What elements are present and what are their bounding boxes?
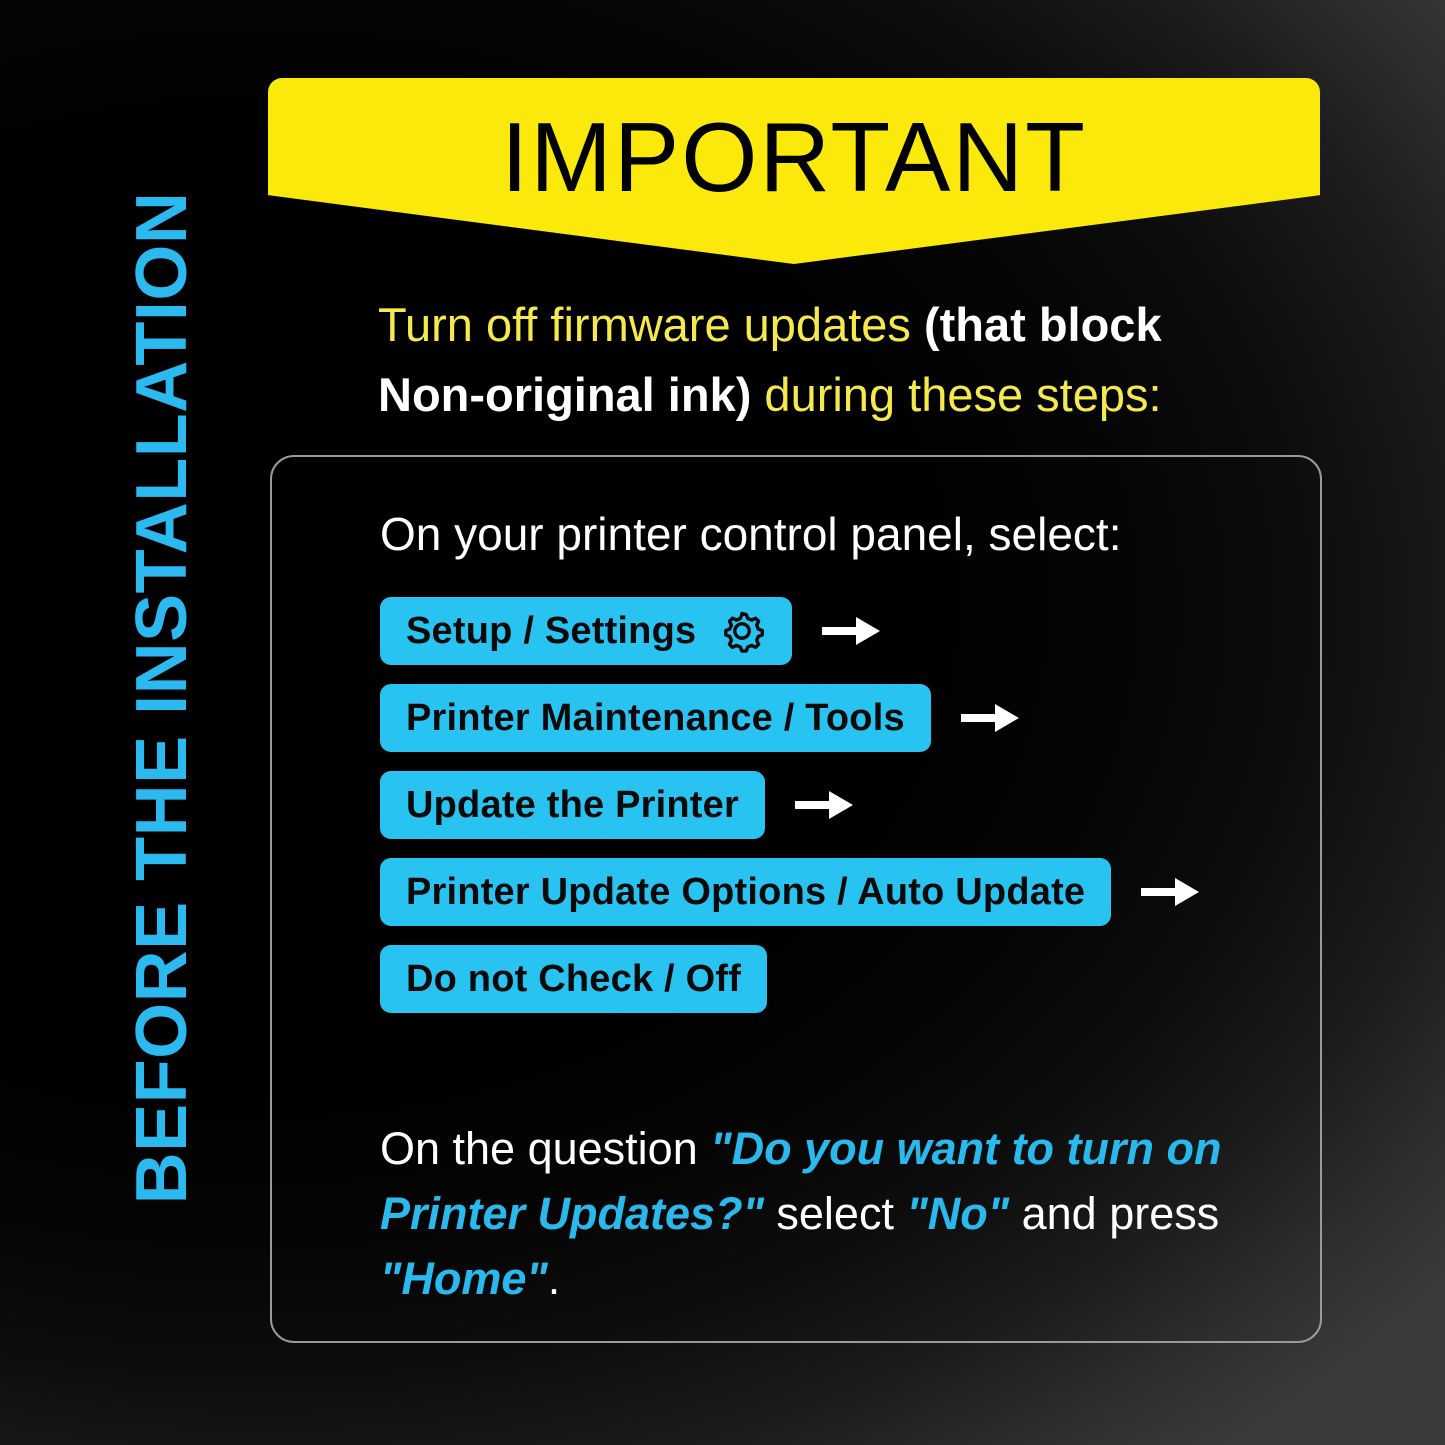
- headline: Turn off firmware updates (that block No…: [378, 290, 1178, 429]
- footer-note: On the question "Do you want to turn on …: [380, 1117, 1230, 1311]
- step-label: Printer Update Options / Auto Update: [406, 871, 1085, 914]
- step-pill-update-the-printer[interactable]: Update the Printer: [380, 771, 765, 839]
- step-row: Do not Check / Off: [380, 945, 1302, 1013]
- step-label: Do not Check / Off: [406, 958, 741, 1001]
- step-pill-setup-settings[interactable]: Setup / Settings: [380, 597, 792, 665]
- step-pill-printer-update-options-auto-update[interactable]: Printer Update Options / Auto Update: [380, 858, 1111, 926]
- banner-title: IMPORTANT: [268, 104, 1320, 212]
- footer-quote-home: "Home": [380, 1253, 548, 1304]
- card-heading: On your printer control panel, select:: [380, 507, 1121, 561]
- footer-text-3: and press: [1009, 1188, 1219, 1239]
- gear-icon: [718, 607, 766, 655]
- vertical-side-title: BEFORE THE INSTALLATION: [112, 70, 212, 1325]
- step-row: Printer Maintenance / Tools: [380, 684, 1302, 752]
- steps-list: Setup / Settings: [380, 597, 1302, 1032]
- step-label: Update the Printer: [406, 784, 739, 827]
- arrow-right-icon: [820, 611, 882, 651]
- instruction-card: On your printer control panel, select: S…: [270, 455, 1322, 1343]
- arrow-right-icon: [1139, 872, 1201, 912]
- step-row: Setup / Settings: [380, 597, 1302, 665]
- step-row: Update the Printer: [380, 771, 1302, 839]
- step-pill-printer-maintenance-tools[interactable]: Printer Maintenance / Tools: [380, 684, 931, 752]
- footer-quote-no: "No": [906, 1188, 1009, 1239]
- headline-part-1: Turn off firmware updates: [378, 298, 924, 351]
- step-row: Printer Update Options / Auto Update: [380, 858, 1302, 926]
- poster-canvas: BEFORE THE INSTALLATION IMPORTANT Turn o…: [0, 0, 1445, 1445]
- footer-text-1: On the question: [380, 1123, 710, 1174]
- arrow-right-icon: [959, 698, 1021, 738]
- footer-text-2: select: [764, 1188, 907, 1239]
- footer-text-4: .: [548, 1253, 561, 1304]
- arrow-right-icon: [793, 785, 855, 825]
- important-banner: IMPORTANT: [268, 78, 1320, 264]
- step-label: Setup / Settings: [406, 610, 696, 653]
- headline-part-3: during these steps:: [751, 368, 1161, 421]
- step-label: Printer Maintenance / Tools: [406, 697, 905, 740]
- vertical-side-title-label: BEFORE THE INSTALLATION: [126, 191, 198, 1204]
- step-pill-do-not-check-off[interactable]: Do not Check / Off: [380, 945, 767, 1013]
